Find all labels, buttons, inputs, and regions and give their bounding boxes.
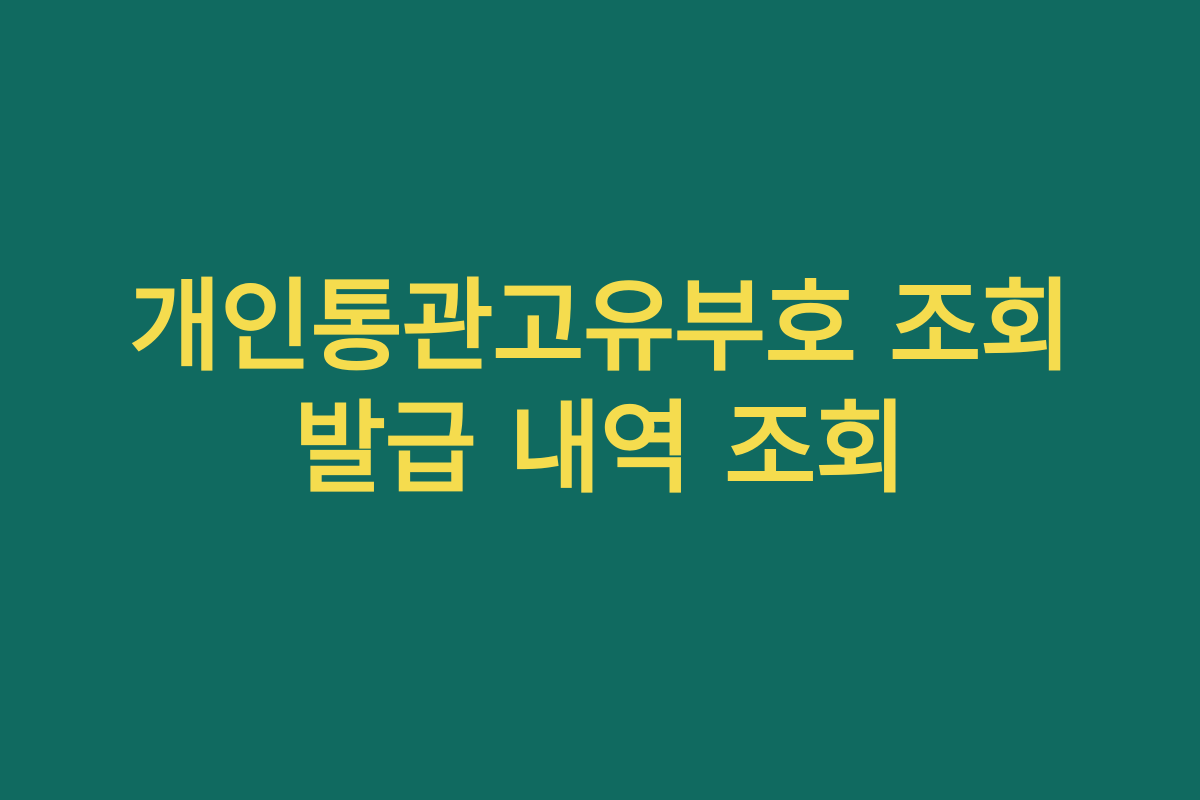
- title-banner: 개인통관고유부호 조회 발급 내역 조회: [0, 0, 1200, 800]
- headline-line-1: 개인통관고유부호 조회: [0, 274, 1200, 380]
- headline-block: 개인통관고유부호 조회 발급 내역 조회: [0, 274, 1200, 502]
- headline-line-2: 발급 내역 조회: [0, 396, 1200, 502]
